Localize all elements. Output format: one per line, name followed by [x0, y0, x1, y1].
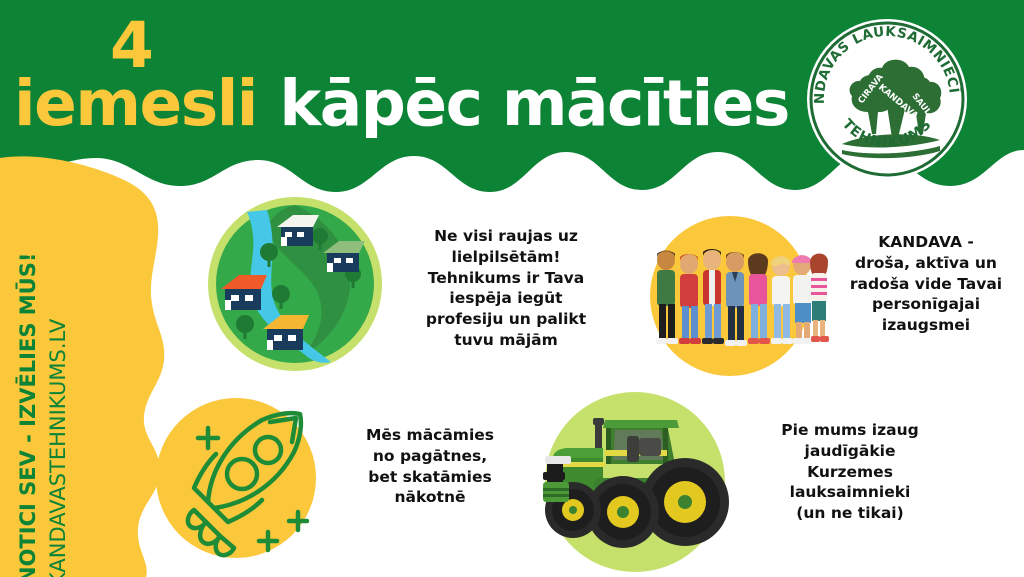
reason-line: Tehnikums ir Tava — [390, 268, 622, 289]
students-illustration — [630, 210, 830, 378]
reason-line: lielpilsētām! — [390, 247, 622, 268]
reason-line: droša, aktīva un — [828, 253, 1024, 274]
headline-main-text: kāpēc mācīties — [279, 67, 789, 140]
reason-text-tractor: Pie mums izaug jaudīgākie Kurzemes lauks… — [743, 420, 957, 524]
reason-line: tuvu mājām — [390, 330, 622, 351]
reason-line: personīgajai — [828, 294, 1024, 315]
headline-line: iemesli kāpēc mācīties — [14, 72, 789, 135]
reason-line: (un ne tikai) — [743, 503, 957, 524]
village-illustration — [207, 196, 383, 372]
reason-line: jaudīgākie — [743, 441, 957, 462]
reason-line: lauksaimnieki — [743, 482, 957, 503]
reason-line: radoša vide Tavai — [828, 274, 1024, 295]
reason-line: iespēja iegūt — [390, 288, 622, 309]
school-logo: KANDAVAS LAUKSAIMNIECĪBAS TEHNIKUMS CIRA… — [806, 18, 968, 180]
tractor-illustration — [535, 386, 735, 577]
reason-line: KANDAVA - — [828, 232, 1024, 253]
reason-line: Mēs mācāmies — [330, 425, 530, 446]
reason-line: Pie mums izaug — [743, 420, 957, 441]
infographic-poster: 4 iemesli kāpēc mācīties KANDAVAS LA — [0, 0, 1024, 577]
reason-line: Ne visi raujas uz — [390, 226, 622, 247]
reason-line: profesiju un palikt — [390, 309, 622, 330]
reason-line: bet skatāmies — [330, 467, 530, 488]
reason-text-students: KANDAVA - droša, aktīva un radoša vide T… — [828, 232, 1024, 336]
rocket-illustration — [150, 392, 328, 570]
reason-text-village: Ne visi raujas uz lielpilsētām! Tehnikum… — [390, 226, 622, 351]
reason-text-rocket: Mēs mācāmies no pagātnes, bet skatāmies … — [330, 425, 530, 508]
reason-line: no pagātnes, — [330, 446, 530, 467]
reason-line: Kurzemes — [743, 462, 957, 483]
reason-line: nākotnē — [330, 487, 530, 508]
reason-line: izaugsmei — [828, 315, 1024, 336]
headline-count-word: iemesli — [14, 67, 257, 140]
